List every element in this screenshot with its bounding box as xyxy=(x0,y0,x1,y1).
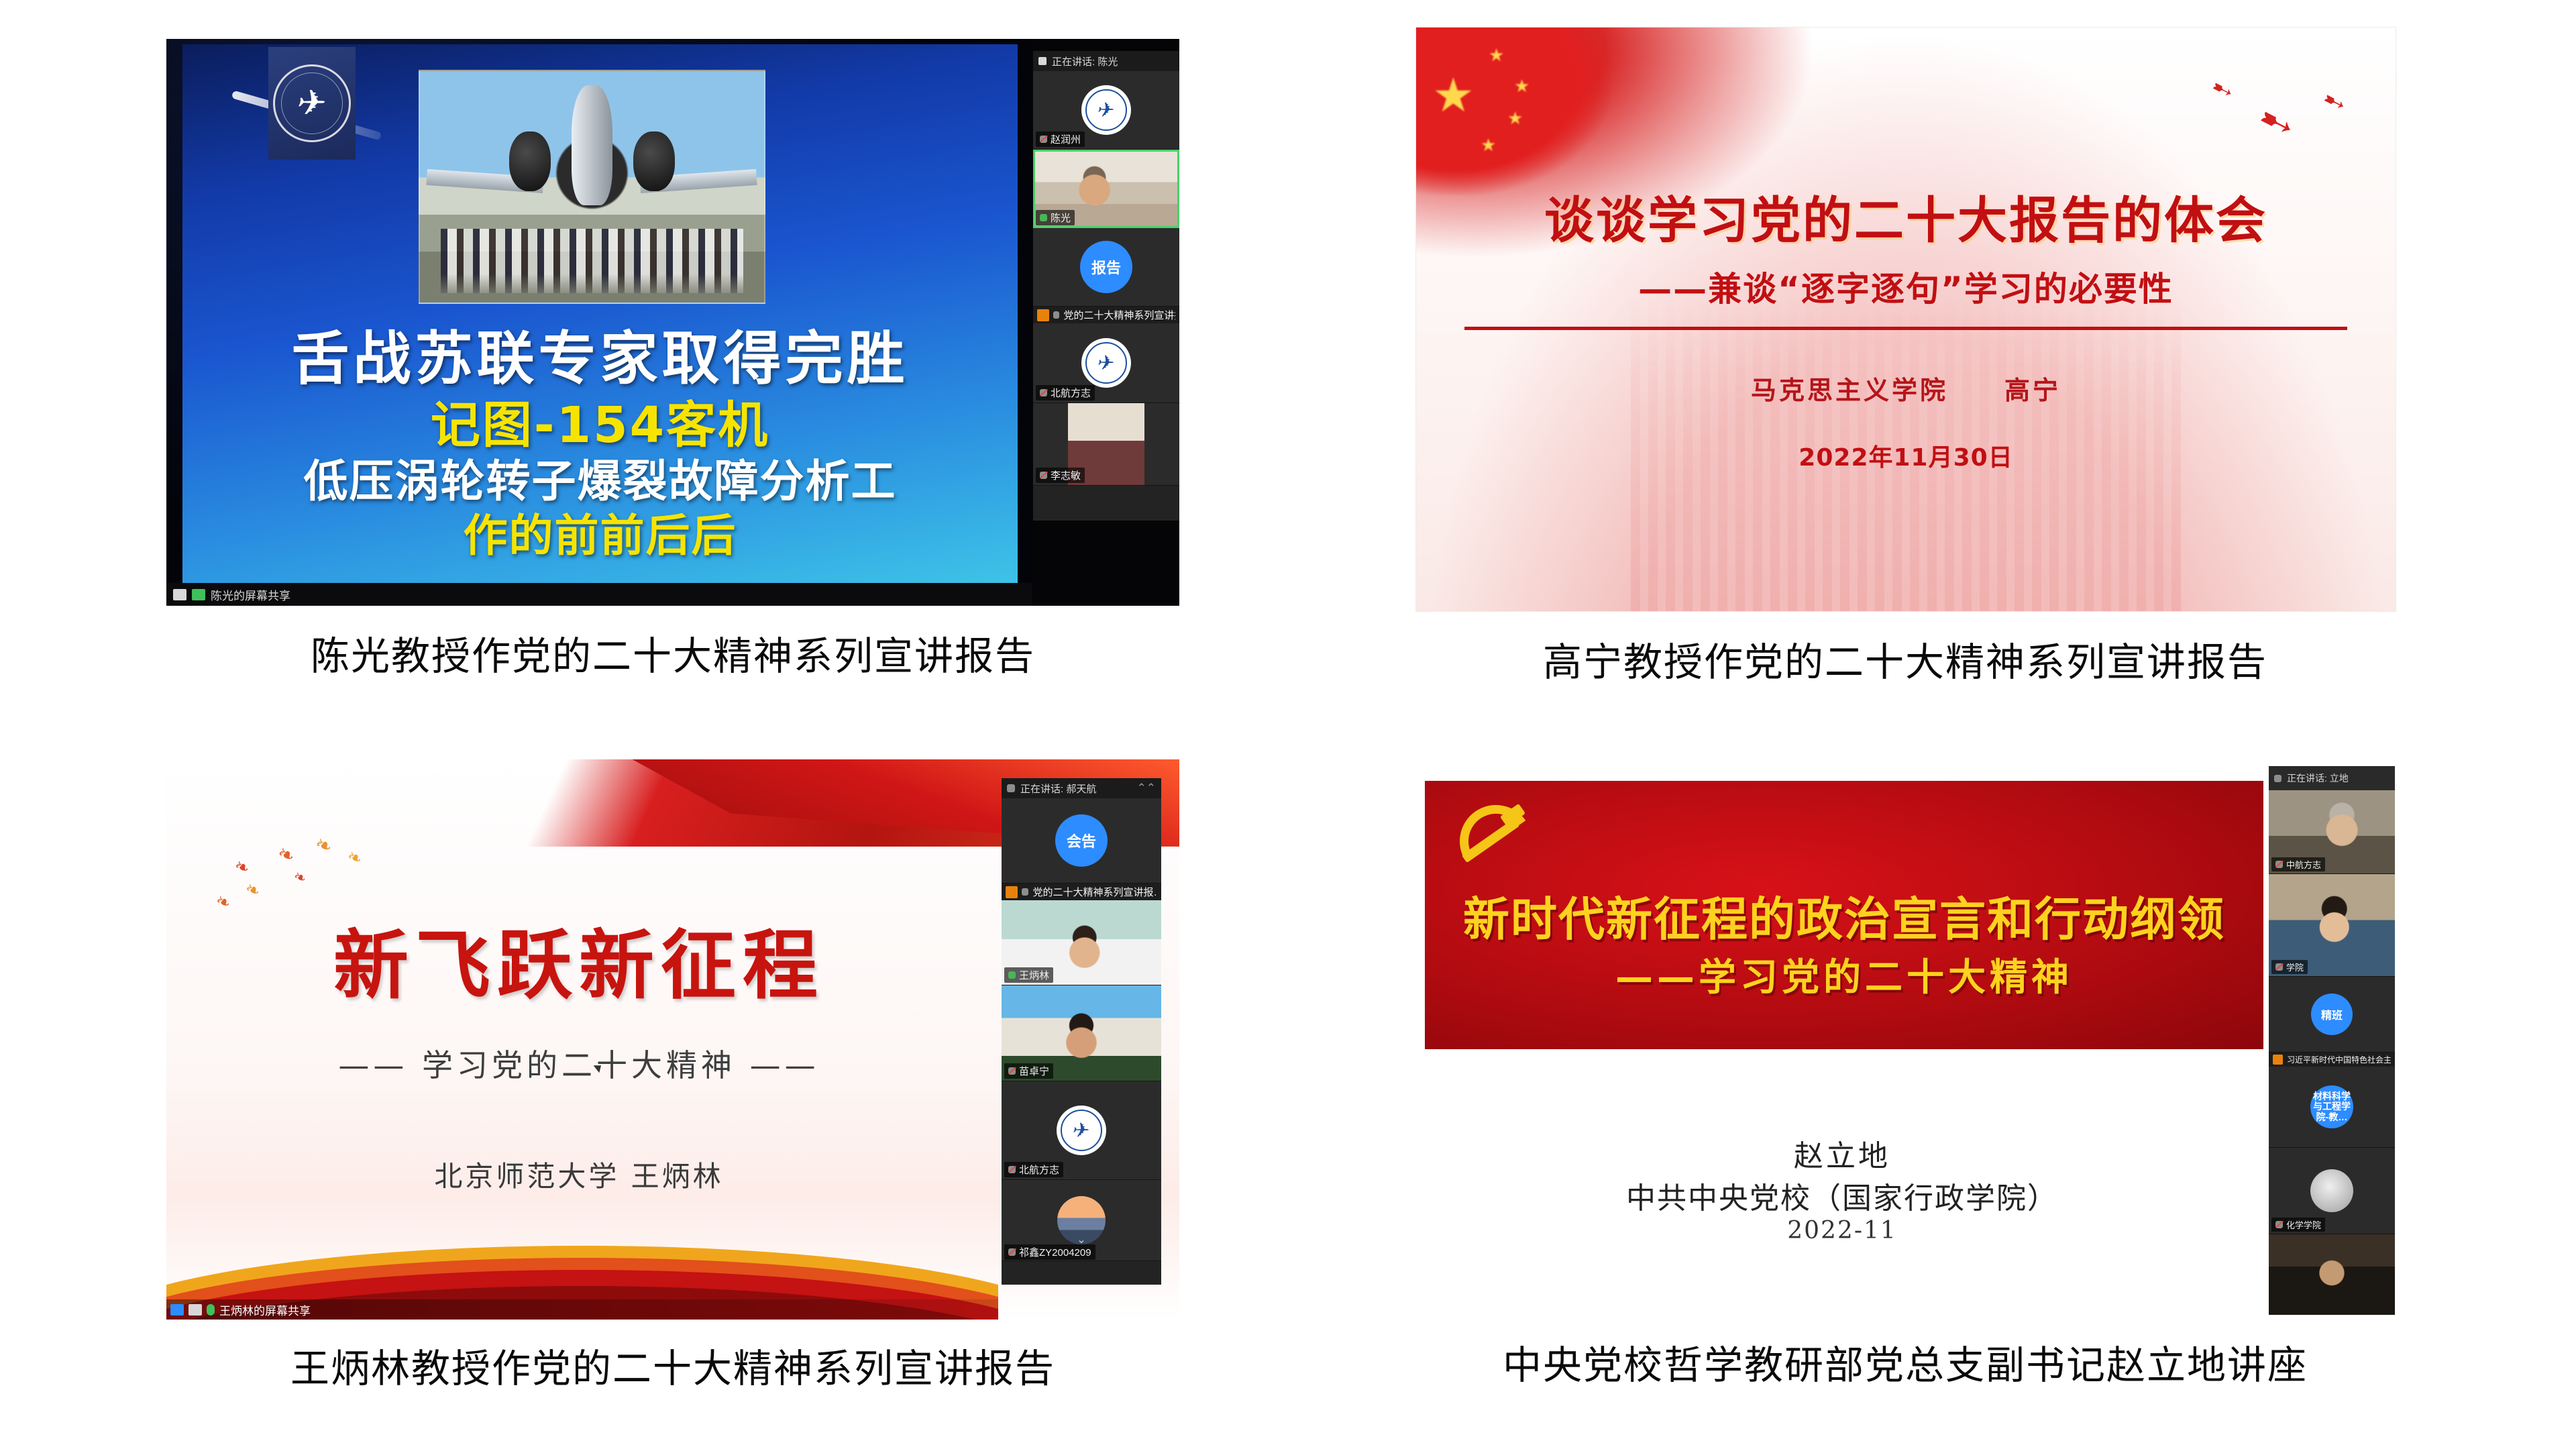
participant-name: 北航方志 xyxy=(1019,1163,1059,1177)
participant-name-wrap: 赵润州 xyxy=(1036,131,1085,147)
active-speaker-label: 正在讲话: 立地 xyxy=(2287,771,2349,785)
participant-name-wrap: 中航方志 xyxy=(2271,857,2325,871)
shared-screen-icon xyxy=(2273,1055,2283,1065)
leaf-icon: ❧ xyxy=(274,841,299,869)
caption-1: 陈光教授作党的二十大精神系列宣讲报告 xyxy=(166,635,1179,678)
flag-star-icon: ★ xyxy=(1432,72,1474,119)
slide1-title: 舌战苏联专家取得完胜 xyxy=(182,311,1018,395)
buaa-logo-icon: ✈ xyxy=(1081,338,1131,388)
mic-on-icon xyxy=(1040,214,1047,221)
mic-muted-icon xyxy=(2275,861,2283,868)
slide2-date: 2022年11月30日 xyxy=(1416,438,2396,473)
flag-star-icon: ★ xyxy=(1507,109,1523,127)
participant-tile[interactable]: 陈光 xyxy=(1033,150,1179,228)
leaf-icon: ❧ xyxy=(241,877,264,902)
divider-rule xyxy=(1464,327,2347,330)
mic-muted-icon xyxy=(1040,472,1047,479)
slide3-title: 新飞跃新征程 xyxy=(207,928,951,1004)
mic-muted-icon xyxy=(2275,963,2283,971)
participant-name-wrap: 化学学院 xyxy=(2271,1218,2325,1232)
flag-star-icon: ★ xyxy=(1514,77,1529,95)
participant-tile[interactable]: 材料科学与工程学院-教… xyxy=(2269,1067,2395,1148)
participant-name-wrap: 陈光 xyxy=(1036,210,1075,225)
mic-on-icon xyxy=(1008,971,1016,979)
caption-3: 王炳林教授作党的二十大精神系列宣讲报告 xyxy=(166,1348,1179,1391)
slide1-body: 低压涡轮转子爆裂故障分析工 作的前前后后 xyxy=(182,455,1018,563)
shared-content-title: 党的二十大精神系列宣讲报告 xyxy=(1063,308,1175,322)
shared-screen-area-1: ✈ 舌战苏联专家取得完胜 记图-154客机 低压涡轮转子爆裂故障分析工 作的前前… xyxy=(166,39,1032,606)
participant-name-wrap: 王炳林 xyxy=(1004,967,1053,983)
mic-muted-icon xyxy=(1007,784,1015,792)
flying-leaves-graphic: ❧ ❧ ❧ ❧ ❧ ❧ ❧ xyxy=(213,830,435,924)
participant-tile[interactable]: 王炳林 xyxy=(1002,900,1161,985)
leaf-icon: ❧ xyxy=(343,845,366,870)
avatar: 会告 xyxy=(1055,814,1108,867)
slide4-date: 2022-11 xyxy=(1415,1217,2269,1244)
participant-tile[interactable]: ✈ 赵润州 xyxy=(1033,71,1179,150)
participant-name-wrap: 祁鑫ZY2004209 xyxy=(1004,1244,1095,1260)
speaker-icon xyxy=(1038,57,1046,65)
shared-content-chip[interactable]: 习近平新时代中国特色社会主… xyxy=(2269,1053,2395,1067)
active-speaker-bar-1: 正在讲话: 陈光 xyxy=(1033,51,1179,71)
national-flag-graphic: ★ ★ ★ ★ ★ xyxy=(1415,27,1611,195)
active-speaker-bar-3: 正在讲话: 郝天航 ⌃⌃ xyxy=(1002,778,1161,798)
page-root: ✈ 舌战苏联专家取得完胜 记图-154客机 低压涡轮转子爆裂故障分析工 作的前前… xyxy=(0,0,2576,1449)
participant-name-wrap: 苗卓宁 xyxy=(1004,1063,1053,1079)
chevron-down-icon[interactable]: ⌄ xyxy=(1077,1235,1085,1246)
slide1-body-line2: 作的前前后后 xyxy=(182,509,1018,563)
grid-cell-2: ★ ★ ★ ★ ★ ➷ ➷ ➷ 谈谈学习党的二十大报告的体会 ——兼谈“逐字逐句… xyxy=(1415,27,2396,684)
doves-graphic: ➷ ➷ ➷ xyxy=(2198,72,2373,159)
participant-tile[interactable]: 中航方志 xyxy=(2269,790,2395,874)
slide4-org: 中共中央党校（国家行政学院） xyxy=(1415,1174,2269,1217)
slide2-org: 马克思主义学院 高宁 xyxy=(1416,370,2396,407)
grid-cell-3: ❧ ❧ ❧ ❧ ❧ ❧ ❧ 新飞跃新征程 —— 学习党的二十大精神 —— 北京师… xyxy=(166,759,1179,1391)
participant-tile[interactable]: 苗卓宁 xyxy=(1002,985,1161,1081)
participant-name: 化学学院 xyxy=(2286,1218,2321,1231)
mic-muted-icon xyxy=(1008,1248,1016,1256)
dove-icon: ➷ xyxy=(2252,93,2300,150)
buaa-logo-1: ✈ xyxy=(268,47,356,160)
participant-name-wrap: 李志敏 xyxy=(1036,468,1085,483)
participant-name: 祁鑫ZY2004209 xyxy=(1019,1245,1091,1259)
participant-name-wrap: 北航方志 xyxy=(1036,385,1095,400)
mic-muted-icon xyxy=(1008,1067,1016,1075)
grid-cell-1: ✈ 舌战苏联专家取得完胜 记图-154客机 低压涡轮转子爆裂故障分析工 作的前前… xyxy=(166,39,1179,678)
slide2-subtitle: ——兼谈“逐字逐句”学习的必要性 xyxy=(1416,262,2396,311)
participant-tile[interactable]: 报告 xyxy=(1033,228,1179,307)
meeting-status-bar-3: 王炳林的屏幕共享 xyxy=(166,1299,998,1320)
microphone-icon xyxy=(192,589,205,600)
slide3-subtitle: —— 学习党的二十大精神 —— xyxy=(207,1041,951,1085)
slide2-title: 谈谈学习党的二十大报告的体会 xyxy=(1416,180,2396,252)
participant-tile[interactable]: 化学学院 xyxy=(2269,1148,2395,1234)
leaf-icon: ❧ xyxy=(212,890,234,914)
avatar: 精班 xyxy=(2311,994,2353,1035)
slide1-subtitle: 记图-154客机 xyxy=(182,385,1018,457)
active-speaker-label: 正在讲话: 陈光 xyxy=(1052,54,1118,68)
participants-icon xyxy=(170,1304,184,1316)
shared-content-title: 习近平新时代中国特色社会主… xyxy=(2287,1054,2391,1065)
participant-tile[interactable] xyxy=(2269,1234,2395,1315)
screen-share-icon xyxy=(189,1304,202,1316)
presentation-slide-1: ✈ 舌战苏联专家取得完胜 记图-154客机 低压涡轮转子爆裂故障分析工 作的前前… xyxy=(182,44,1018,600)
participant-name: 苗卓宁 xyxy=(1019,1064,1049,1078)
active-speaker-bar-4: 正在讲话: 立地 xyxy=(2269,766,2395,790)
participant-tile[interactable]: 学院 xyxy=(2269,874,2395,977)
participant-rail-1[interactable]: 正在讲话: 陈光 ✈ 赵润州 陈光 xyxy=(1033,51,1179,521)
flag-star-icon: ★ xyxy=(1481,136,1496,154)
shared-screen-area-4: 新时代新征程的政治宣言和行动纲领 ——学习党的二十大精神 赵立地 中共中央党校（… xyxy=(1415,766,2269,1315)
mic-muted-icon xyxy=(1022,888,1028,896)
participant-tile[interactable]: 祁鑫ZY2004209 ⌄ xyxy=(1002,1180,1161,1261)
share-status-text: 陈光的屏幕共享 xyxy=(211,586,290,603)
participant-name-wrap: 北航方志 xyxy=(1004,1162,1063,1177)
participant-name: 赵润州 xyxy=(1051,132,1081,146)
screenshot-3: ❧ ❧ ❧ ❧ ❧ ❧ ❧ 新飞跃新征程 —— 学习党的二十大精神 —— 北京师… xyxy=(166,759,1179,1320)
avatar xyxy=(2310,1169,2353,1212)
participant-name: 北航方志 xyxy=(1051,386,1091,400)
slide1-body-line1: 低压涡轮转子爆裂故障分析工 xyxy=(304,455,897,507)
caption-4: 中央党校哲学教研部党总支副书记赵立地讲座 xyxy=(1415,1344,2395,1387)
shared-screen-icon xyxy=(1037,309,1049,321)
participant-tile[interactable]: 精班 xyxy=(2269,977,2395,1053)
mic-muted-icon xyxy=(1040,389,1047,396)
participant-name-wrap: 学院 xyxy=(2271,960,2308,974)
share-status-text: 王炳林的屏幕共享 xyxy=(219,1301,311,1318)
avatar: 报告 xyxy=(1080,241,1132,293)
dove-icon: ➷ xyxy=(2208,72,2237,107)
participant-name: 陈光 xyxy=(1051,211,1071,225)
screenshot-1: ✈ 舌战苏联专家取得完胜 记图-154客机 低压涡轮转子爆裂故障分析工 作的前前… xyxy=(166,39,1179,606)
avatar: 材料科学与工程学院-教… xyxy=(2310,1085,2353,1128)
slide4-speaker: 赵立地 xyxy=(1415,1132,2269,1175)
aircraft-photo xyxy=(419,70,765,304)
flag-star-icon: ★ xyxy=(1489,46,1504,64)
screenshot-4: 新时代新征程的政治宣言和行动纲领 ——学习党的二十大精神 赵立地 中共中央党校（… xyxy=(1415,766,2395,1315)
leaf-icon: ❧ xyxy=(311,831,337,859)
active-speaker-label: 正在讲话: 郝天航 xyxy=(1020,782,1096,796)
mic-muted-icon xyxy=(1040,136,1047,143)
microphone-icon xyxy=(207,1304,215,1316)
shared-content-title: 党的二十大精神系列宣讲报… xyxy=(1032,885,1157,899)
slide3-author: 北京师范大学 王炳林 xyxy=(207,1154,951,1195)
video-thumbnail xyxy=(2269,1234,2395,1315)
participant-name: 王炳林 xyxy=(1019,968,1049,982)
shared-content-chip[interactable]: 党的二十大精神系列宣讲报… xyxy=(1002,883,1161,900)
screen-share-icon xyxy=(173,589,186,600)
participant-rail-3[interactable]: 正在讲话: 郝天航 ⌃⌃ 会告 党的二十大精神系列宣讲报… 王炳林 xyxy=(1002,778,1161,1285)
shared-screen-icon xyxy=(1006,886,1018,898)
mic-muted-icon xyxy=(2274,775,2282,782)
slide4-banner-title: 新时代新征程的政治宣言和行动纲领 xyxy=(1425,881,2263,949)
participant-rail-4[interactable]: 正在讲话: 立地 中航方志 学院 xyxy=(2269,766,2395,1315)
leaf-icon: ❧ xyxy=(231,855,253,879)
participant-name: 李志敏 xyxy=(1051,468,1081,482)
mic-muted-icon xyxy=(2275,1221,2283,1228)
grid-cell-4: 新时代新征程的政治宣言和行动纲领 ——学习党的二十大精神 赵立地 中共中央党校（… xyxy=(1415,766,2395,1387)
participant-tile[interactable]: ✈ 北航方志 xyxy=(1002,1081,1161,1180)
caption-2: 高宁教授作党的二十大精神系列宣讲报告 xyxy=(1415,641,2395,684)
buaa-logo-icon: ✈ xyxy=(1057,1106,1106,1155)
collapse-icon[interactable]: ⌃⌃ xyxy=(1137,782,1157,795)
mic-muted-icon xyxy=(1053,311,1059,319)
party-emblem-icon xyxy=(1449,798,1536,877)
participant-tile[interactable]: ✈ 北航方志 xyxy=(1033,323,1179,403)
red-banner: 新时代新征程的政治宣言和行动纲领 ——学习党的二十大精神 xyxy=(1425,781,2263,1049)
screenshot-2: ★ ★ ★ ★ ★ ➷ ➷ ➷ 谈谈学习党的二十大报告的体会 ——兼谈“逐字逐句… xyxy=(1415,27,2396,612)
participant-tile[interactable]: 李志敏 xyxy=(1033,403,1179,486)
slide4-banner-subtitle: ——学习党的二十大精神 xyxy=(1425,947,2263,1002)
participant-tile[interactable]: 会告 xyxy=(1002,798,1161,883)
leaf-icon: ❧ xyxy=(290,867,309,888)
dove-icon: ➷ xyxy=(2319,84,2350,120)
meeting-status-bar-1: 陈光的屏幕共享 xyxy=(166,583,1032,606)
shared-content-chip[interactable]: 党的二十大精神系列宣讲报告 xyxy=(1033,307,1179,323)
participant-name: 中航方志 xyxy=(2286,858,2321,871)
participant-name: 学院 xyxy=(2286,961,2304,973)
mic-muted-icon xyxy=(1008,1166,1016,1173)
buaa-logo-icon: ✈ xyxy=(1081,85,1131,135)
